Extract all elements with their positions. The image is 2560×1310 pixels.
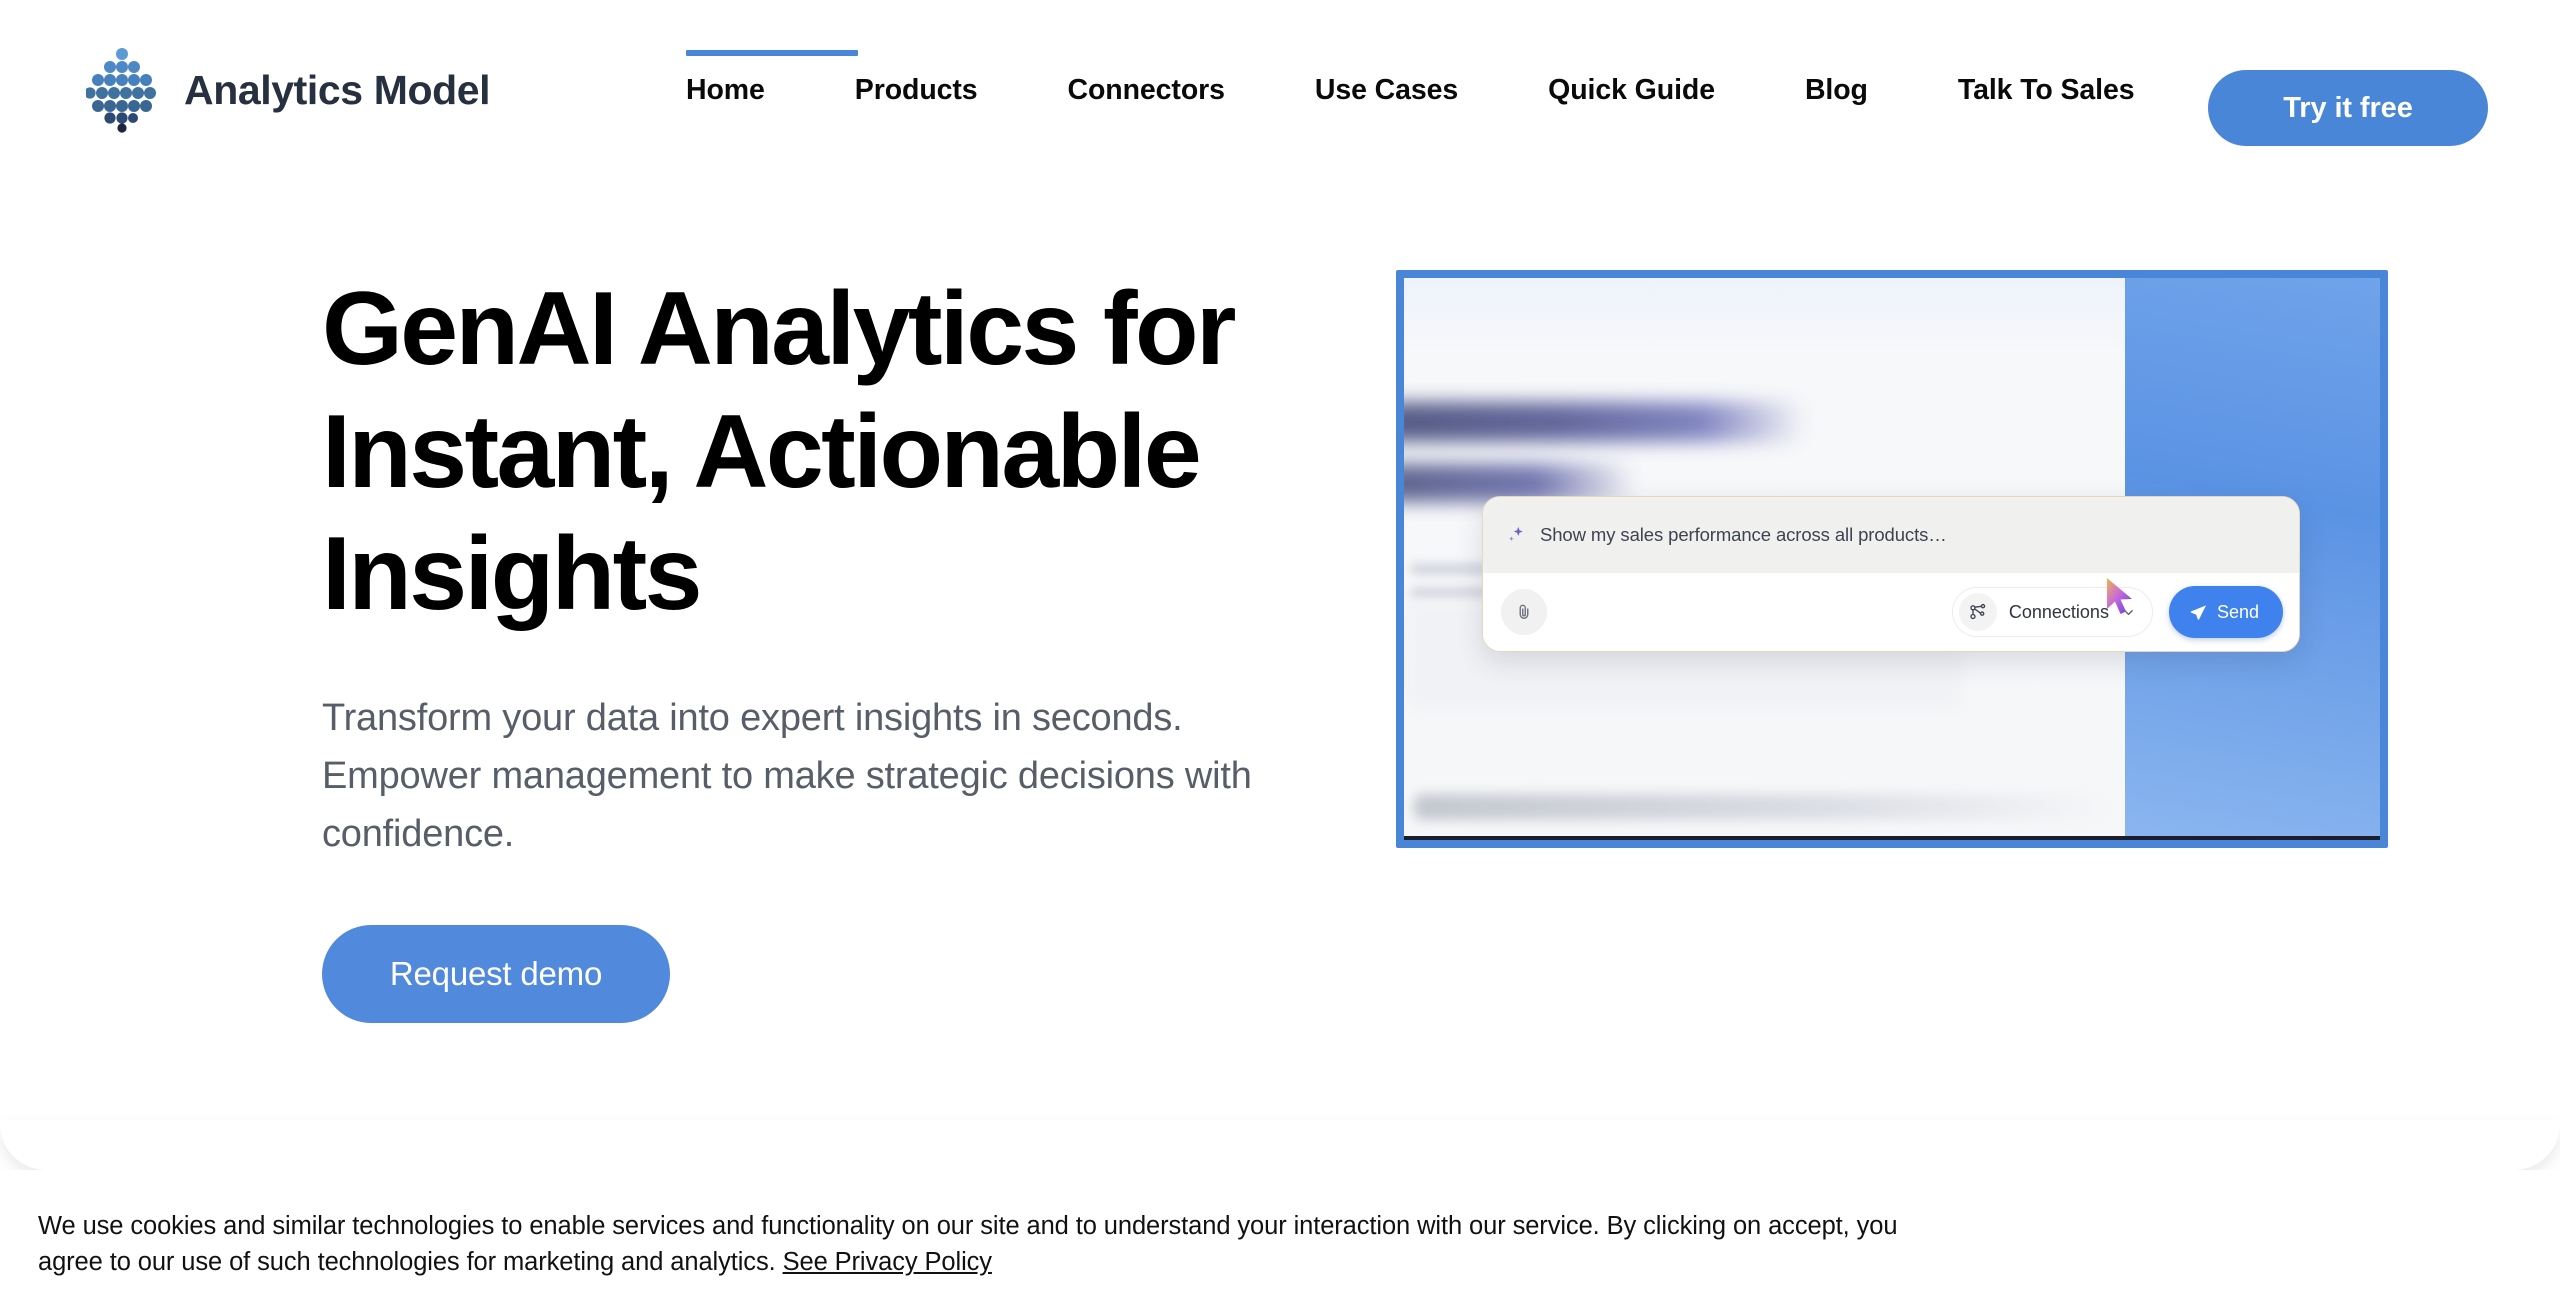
nav-item-products[interactable]: Products (855, 74, 978, 107)
request-demo-button[interactable]: Request demo (322, 925, 670, 1023)
nav-item-home[interactable]: Home (686, 74, 765, 107)
nav-item-connectors[interactable]: Connectors (1068, 74, 1225, 107)
hero-copy: GenAI Analytics for Instant, Actionable … (322, 268, 1282, 1023)
section-divider (0, 1120, 2560, 1170)
chevron-down-icon (2121, 605, 2136, 620)
send-label: Send (2217, 602, 2259, 623)
network-nodes-icon (1968, 602, 1988, 622)
site-header: Analytics Model Home Products Connectors… (0, 0, 2560, 180)
attach-file-button[interactable] (1501, 589, 1547, 635)
paperclip-icon (1514, 602, 1534, 622)
send-button[interactable]: Send (2169, 586, 2283, 638)
connections-label: Connections (2009, 602, 2109, 623)
chat-composer-card: Show my sales performance across all pro… (1482, 496, 2300, 652)
nav-item-blog[interactable]: Blog (1805, 74, 1868, 107)
paper-plane-icon (2189, 603, 2208, 622)
nav-item-talk-to-sales[interactable]: Talk To Sales (1958, 74, 2135, 107)
hero-section: GenAI Analytics for Instant, Actionable … (0, 180, 2560, 1120)
brand-logo-link[interactable]: Analytics Model (86, 50, 490, 130)
page-title: GenAI Analytics for Instant, Actionable … (322, 268, 1282, 636)
try-it-free-button[interactable]: Try it free (2208, 70, 2488, 146)
composer-actions-row: Connections Send (1483, 573, 2299, 651)
see-privacy-policy-link[interactable]: See Privacy Policy (783, 1248, 992, 1276)
connections-dropdown[interactable]: Connections (1952, 587, 2153, 637)
product-app-preview: Show my sales performance across all pro… (1404, 278, 2380, 840)
blurred-greeting-line-1 (1404, 402, 1806, 442)
composer-prompt-text: Show my sales performance across all pro… (1540, 524, 1947, 546)
main-nav: Home Products Connectors Use Cases Quick… (686, 0, 2135, 180)
brand-name: Analytics Model (184, 67, 490, 114)
composer-prompt-row[interactable]: Show my sales performance across all pro… (1483, 497, 2299, 573)
hero-product-screenshot: Show my sales performance across all pro… (1396, 270, 2388, 848)
nav-item-quick-guide[interactable]: Quick Guide (1548, 74, 1715, 107)
cookie-consent-banner: We use cookies and similar technologies … (0, 1170, 2560, 1310)
sparkle-icon (1505, 524, 1527, 546)
nav-item-use-cases[interactable]: Use Cases (1315, 74, 1458, 107)
landing-page: Analytics Model Home Products Connectors… (0, 0, 2560, 1310)
hero-subtitle: Transform your data into expert insights… (322, 690, 1272, 863)
diamond-dots-logo-icon (86, 47, 158, 133)
blurred-footer-text (1414, 794, 2114, 820)
connections-icon-wrap (1959, 593, 1997, 631)
cookie-consent-text: We use cookies and similar technologies … (38, 1208, 1968, 1280)
